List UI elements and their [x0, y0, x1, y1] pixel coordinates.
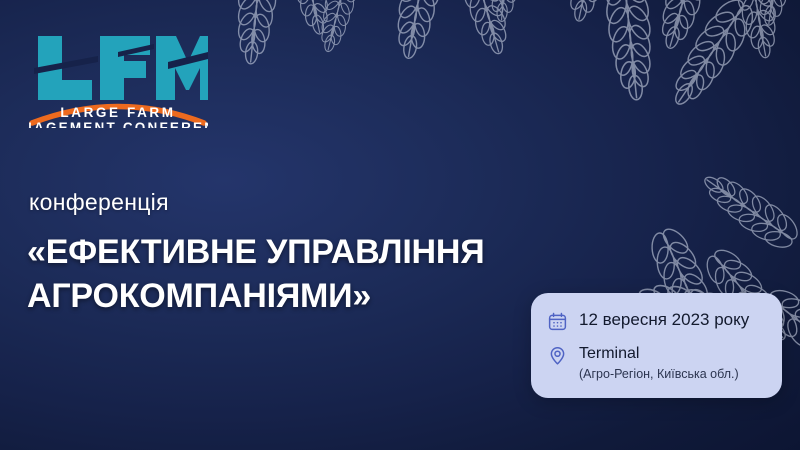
lfm-logo: LARGE FARM MANAGEMENT CONFERENCE	[28, 28, 208, 128]
calendar-icon	[547, 311, 568, 332]
logo-letter-marks	[34, 36, 208, 100]
event-details-card: 12 вересня 2023 року Terminal (Агро-Регі…	[531, 293, 782, 398]
event-venue: Terminal	[579, 344, 739, 364]
event-date-row: 12 вересня 2023 року	[547, 310, 764, 332]
event-venue-detail: (Агро-Регіон, Київська обл.)	[579, 366, 739, 382]
conference-poster: LARGE FARM MANAGEMENT CONFERENCE конфере…	[0, 0, 800, 450]
logo-tagline-line1: LARGE FARM	[60, 105, 175, 120]
page-title-line-1: «ЕФЕКТИВНЕ УПРАВЛІННЯ	[27, 231, 485, 275]
page-title: «ЕФЕКТИВНЕ УПРАВЛІННЯ АГРОКОМПАНІЯМИ»	[27, 231, 485, 318]
logo-tagline-line2: MANAGEMENT CONFERENCE	[28, 120, 208, 128]
event-location-row: Terminal (Агро-Регіон, Київська обл.)	[547, 344, 764, 382]
hero-kicker: конференція	[29, 190, 485, 215]
event-date: 12 вересня 2023 року	[579, 310, 749, 330]
location-pin-icon	[547, 345, 568, 366]
hero-text-block: конференція «ЕФЕКТИВНЕ УПРАВЛІННЯ АГРОКО…	[27, 190, 485, 318]
page-title-line-2: АГРОКОМПАНІЯМИ»	[27, 275, 485, 319]
